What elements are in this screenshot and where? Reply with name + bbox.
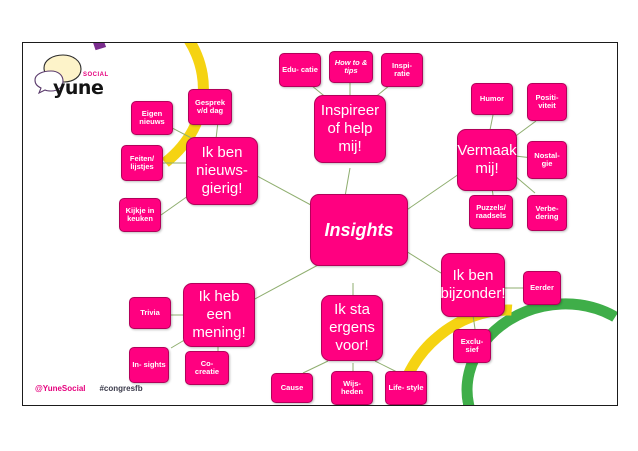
slide-canvas: SOCIAL yune: [0, 0, 638, 451]
branch-node-bijzonder[interactable]: Ik ben bijzonder!: [441, 253, 505, 317]
leaf-node-educatie[interactable]: Edu- catie: [279, 53, 321, 87]
leaf-node-exclusief[interactable]: Exclu- sief: [453, 329, 491, 363]
leaf-node-puzzels-raadsels[interactable]: Puzzels/ raadsels: [469, 195, 513, 229]
leaf-node-nostalgie[interactable]: Nostal- gie: [527, 141, 567, 179]
branch-node-nieuwsgierig[interactable]: Ik ben nieuws-gierig!: [186, 137, 258, 205]
leaf-node-kijkje-in-keuken[interactable]: Kijkje in keuken: [119, 198, 161, 232]
branch-node-ergens-voor[interactable]: Ik sta ergens voor!: [321, 295, 383, 361]
leaf-node-insights[interactable]: In- sights: [129, 347, 169, 383]
branch-node-inspireer[interactable]: Inspireer of help mij!: [314, 95, 386, 163]
leaf-node-positiviteit[interactable]: Positi- viteit: [527, 83, 567, 121]
leaf-node-co-creatie[interactable]: Co- creatie: [185, 351, 229, 385]
leaf-node-cause[interactable]: Cause: [271, 373, 313, 403]
leaf-node-lifestyle[interactable]: Life- style: [385, 371, 427, 405]
leaf-node-inspiratie[interactable]: Inspi- ratie: [381, 53, 423, 87]
leaf-node-eigen-nieuws[interactable]: Eigen nieuws: [131, 101, 173, 135]
leaf-node-feiten-lijstjes[interactable]: Feiten/ lijstjes: [121, 145, 163, 181]
leaf-node-gesprek-vd-dag[interactable]: Gesprek v/d dag: [188, 89, 232, 125]
leaf-node-verbedering[interactable]: Verbe- dering: [527, 195, 567, 231]
presentation-slide: SOCIAL yune: [22, 42, 618, 406]
mindmap-center-node[interactable]: Insights: [310, 194, 408, 266]
leaf-node-eerder[interactable]: Eerder: [523, 271, 561, 305]
footer-hashtag[interactable]: #congresfb: [99, 384, 142, 393]
leaf-node-humor[interactable]: Humor: [471, 83, 513, 115]
leaf-node-trivia[interactable]: Trivia: [129, 297, 171, 329]
leaf-node-wijsheden[interactable]: Wijs- heden: [331, 371, 373, 405]
branch-node-mening[interactable]: Ik heb een mening!: [183, 283, 255, 347]
footer-social-tags: @YuneSocial #congresfb: [35, 384, 143, 393]
branch-node-vermaak[interactable]: Vermaak mij!: [457, 129, 517, 191]
leaf-node-how-to-tips[interactable]: How to & tips: [329, 51, 373, 83]
footer-twitter-handle[interactable]: @YuneSocial: [35, 384, 85, 393]
